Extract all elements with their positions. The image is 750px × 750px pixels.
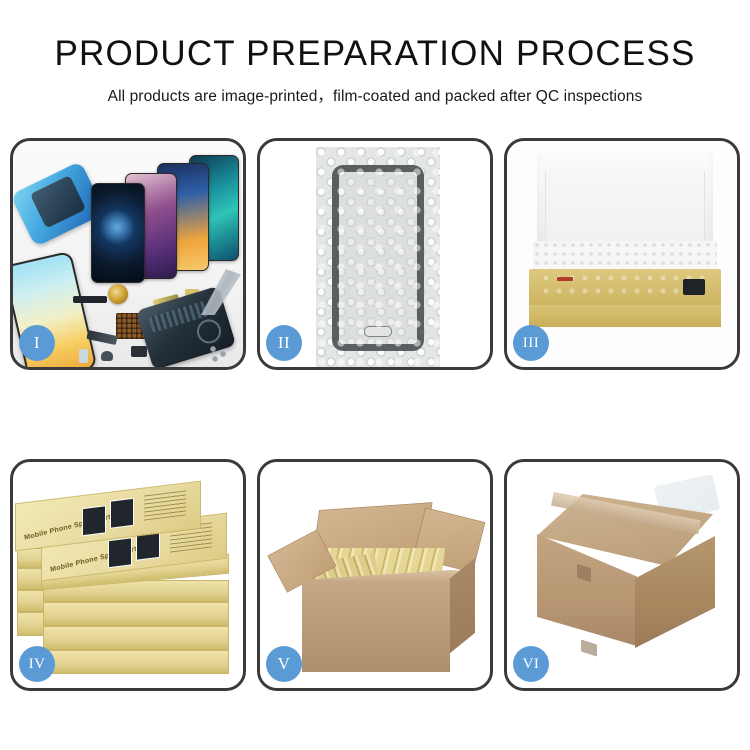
process-step-panel-5[interactable]: V <box>257 459 493 691</box>
box-lid-screen-image <box>82 505 106 536</box>
screws-icon <box>209 345 231 363</box>
flex-cable-part-icon <box>73 296 107 303</box>
open-carton-body-icon <box>302 580 450 672</box>
box-lid-screen-image <box>110 498 134 529</box>
phone-screen-lineup <box>91 155 241 285</box>
box-lid-spec-lines <box>144 489 186 520</box>
page-title: PRODUCT PREPARATION PROCESS <box>0 0 750 73</box>
step-badge-1: I <box>19 325 55 361</box>
process-step-grid: I II III <box>10 138 740 691</box>
process-step-panel-4[interactable]: Mobile Phone Spare Parts Mobile Phone Sp… <box>10 459 246 691</box>
process-step-panel-1[interactable]: I <box>10 138 246 370</box>
phone-screen-blue-icon <box>91 183 145 283</box>
step-badge-4: IV <box>19 646 55 682</box>
stacked-box-slab <box>43 602 229 626</box>
process-step-panel-2[interactable]: II <box>257 138 493 370</box>
speaker-coil-part-icon <box>108 284 128 304</box>
kraft-box-front-face <box>529 305 721 327</box>
step-badge-5: V <box>266 646 302 682</box>
small-component-b-icon <box>101 351 113 361</box>
stacked-box-slab <box>43 650 229 674</box>
wrapped-phone-screen-icon <box>332 165 424 351</box>
process-step-panel-3[interactable]: III <box>504 138 740 370</box>
step-badge-3: III <box>513 325 549 361</box>
step-badge-6: VI <box>513 646 549 682</box>
wallpaper-glow <box>100 210 134 244</box>
small-component-d-icon <box>79 349 88 363</box>
small-component-a-icon <box>131 346 147 357</box>
bubble-wrap-sheet-icon <box>316 147 440 367</box>
step-badge-2: II <box>266 325 302 361</box>
stacked-box-slab <box>43 626 229 650</box>
packed-screen-in-box-icon <box>541 273 709 301</box>
box-lid-screen-image <box>108 537 132 568</box>
page-header: PRODUCT PREPARATION PROCESS All products… <box>0 0 750 106</box>
process-step-panel-6[interactable]: VI <box>504 459 740 691</box>
page-subtitle: All products are image-printed，film-coat… <box>0 73 750 106</box>
